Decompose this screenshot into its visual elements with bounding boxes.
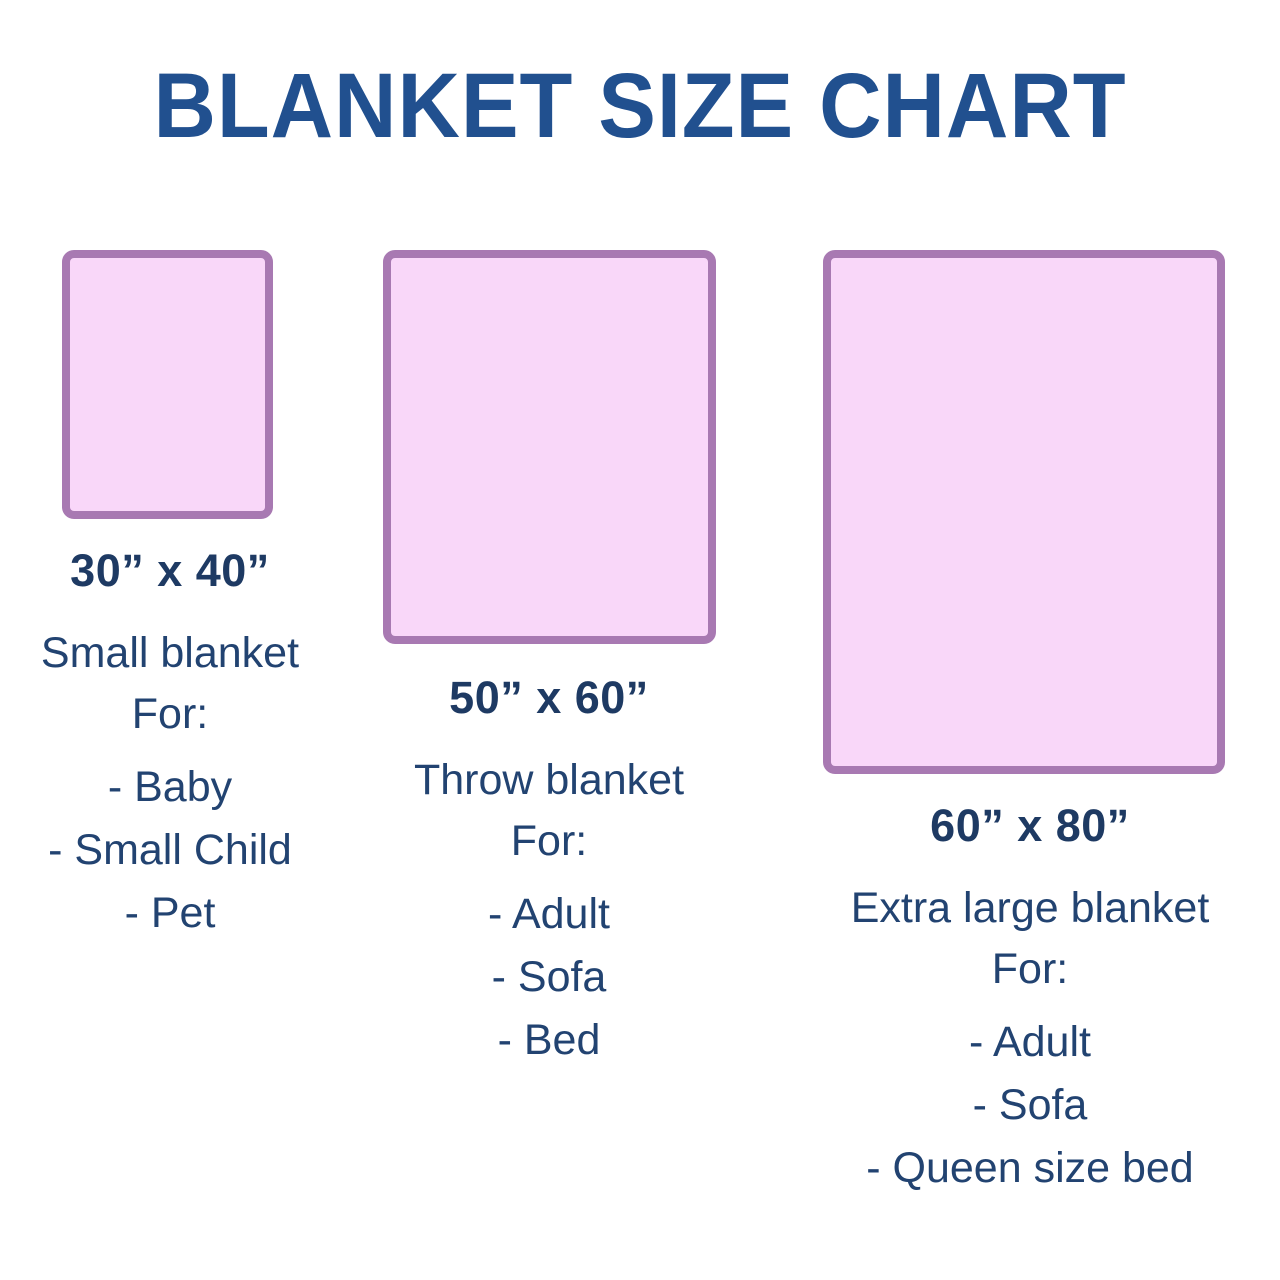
spacer: [0, 744, 340, 756]
size-details-throw: 50” x 60” Throw blanket For: - Adult - S…: [356, 667, 742, 1072]
dimension-label-throw: 50” x 60”: [356, 667, 742, 729]
for-label-extra-large: For:: [780, 939, 1280, 999]
size-column-throw: 50” x 60” Throw blanket For: - Adult - S…: [356, 0, 742, 1280]
list-item: - Bed: [356, 1009, 742, 1072]
blanket-swatch-throw: [383, 250, 716, 644]
size-details-small: 30” x 40” Small blanket For: - Baby - Sm…: [0, 540, 340, 945]
list-item: - Adult: [356, 883, 742, 946]
spacer: [356, 871, 742, 883]
list-item: - Sofa: [356, 946, 742, 1009]
blanket-size-chart-infographic: BLANKET SIZE CHART 30” x 40” Small blank…: [0, 0, 1280, 1280]
spacer: [780, 999, 1280, 1011]
blanket-type-label-throw: Throw blanket: [356, 749, 742, 811]
spacer: [356, 729, 742, 749]
blanket-type-label-small: Small blanket: [0, 622, 340, 684]
list-item: - Pet: [0, 882, 340, 945]
list-item: - Adult: [780, 1011, 1280, 1074]
for-label-throw: For:: [356, 811, 742, 871]
use-list-small: - Baby - Small Child - Pet: [0, 756, 340, 945]
list-item: - Queen size bed: [780, 1137, 1280, 1200]
size-column-small: 30” x 40” Small blanket For: - Baby - Sm…: [0, 0, 340, 1280]
list-item: - Baby: [0, 756, 340, 819]
size-details-extra-large: 60” x 80” Extra large blanket For: - Adu…: [780, 795, 1280, 1200]
list-item: - Sofa: [780, 1074, 1280, 1137]
dimension-label-small: 30” x 40”: [0, 540, 340, 602]
blanket-type-label-extra-large: Extra large blanket: [780, 877, 1280, 939]
blanket-swatch-extra-large: [823, 250, 1225, 774]
use-list-throw: - Adult - Sofa - Bed: [356, 883, 742, 1072]
list-item: - Small Child: [0, 819, 340, 882]
size-column-extra-large: 60” x 80” Extra large blanket For: - Adu…: [780, 0, 1280, 1280]
dimension-label-extra-large: 60” x 80”: [780, 795, 1280, 857]
blanket-swatch-small: [62, 250, 273, 519]
for-label-small: For:: [0, 684, 340, 744]
spacer: [780, 857, 1280, 877]
use-list-extra-large: - Adult - Sofa - Queen size bed: [780, 1011, 1280, 1200]
spacer: [0, 602, 340, 622]
